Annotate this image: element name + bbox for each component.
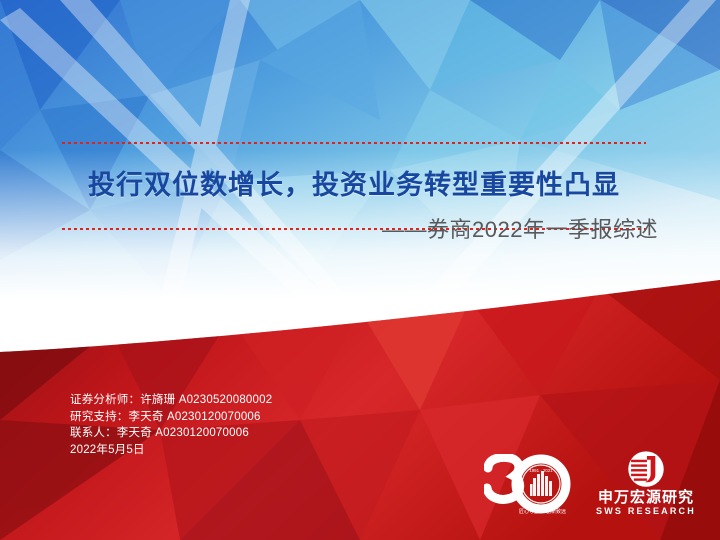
analyst-line-date: 2022年5月5日 bbox=[70, 442, 272, 459]
sws-brand-logo: 申万宏源研究 SWS RESEARCH bbox=[590, 450, 702, 528]
page-subtitle: ——券商2022年一季报综述 bbox=[0, 212, 658, 244]
analyst-info-block: 证券分析师：许旖珊 A0230520080002 研究支持：李天奇 A02301… bbox=[70, 392, 272, 458]
sws-mark-icon bbox=[618, 450, 674, 490]
anniversary-30-logo: 1991 · 2021 匠心守正 创新致远 bbox=[484, 454, 576, 528]
page-title: 投行双位数增长，投资业务转型重要性凸显 bbox=[62, 162, 646, 210]
analyst-line-research-support: 研究支持：李天奇 A0230120070006 bbox=[70, 409, 272, 426]
sws-brand-name-en: SWS RESEARCH bbox=[596, 506, 696, 517]
sws-brand-name-cn: 申万宏源研究 bbox=[598, 490, 694, 506]
presentation-cover-slide: 投行双位数增长，投资业务转型重要性凸显 ——券商2022年一季报综述 证券分析师… bbox=[0, 0, 720, 540]
anniversary-years-text: 1991 · 2021 bbox=[529, 468, 553, 473]
analyst-line-contact: 联系人：李天奇 A0230120070006 bbox=[70, 425, 272, 442]
svg-text:创新致远: 创新致远 bbox=[546, 508, 566, 515]
svg-text:匠心守正: 匠心守正 bbox=[519, 508, 539, 515]
title-rule-top bbox=[62, 142, 646, 144]
logo-area: 1991 · 2021 匠心守正 创新致远 申万宏源研究 SWS RE bbox=[484, 450, 702, 528]
analyst-line-securities-analyst: 证券分析师：许旖珊 A0230520080002 bbox=[70, 392, 272, 409]
